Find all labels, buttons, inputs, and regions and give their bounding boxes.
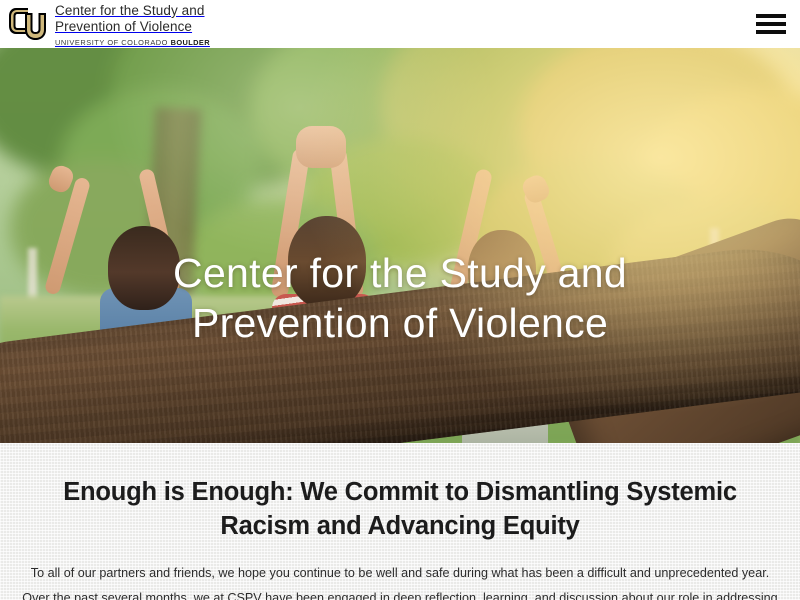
hamburger-bar-3 [756,30,786,34]
intro-paragraphs: To all of our partners and friends, we h… [18,561,782,600]
intro-paragraph-1: To all of our partners and friends, we h… [18,561,782,586]
hamburger-bar-1 [756,14,786,18]
brand-title-line2: Prevention of Violence [55,19,192,34]
hero-banner: Center for the Study and Prevention of V… [0,48,800,443]
page-title-line1: Enough is Enough: We Commit to Dismantli… [63,478,737,506]
hero-photograph [0,48,800,443]
cu-interlocking-logo-icon [8,6,46,42]
hamburger-menu-icon[interactable] [756,12,786,36]
hero-title-line1: Center for the Study and [173,250,627,296]
hero-title-line2: Prevention of Violence [192,300,608,346]
brand-title-line1: Center for the Study and [55,3,205,18]
site-header: Center for the Study and Prevention of V… [0,0,800,48]
page-title-line2: Racism and Advancing Equity [220,512,579,540]
page-title: Enough is Enough: We Commit to Dismantli… [18,476,782,543]
brand-subtitle: UNIVERSITY OF COLORADO BOULDER [55,39,210,47]
main-content: Enough is Enough: We Commit to Dismantli… [0,443,800,600]
hamburger-bar-2 [756,22,786,26]
intro-paragraph-2: Over the past several months, we at CSPV… [18,586,782,600]
brand-subtitle-university: UNIVERSITY OF COLORADO [55,38,171,47]
brand-logo-link[interactable]: Center for the Study and Prevention of V… [8,2,210,47]
child-middle-clasped-hands [296,126,346,168]
hero-title: Center for the Study and Prevention of V… [0,248,800,348]
brand-text: Center for the Study and Prevention of V… [55,2,210,47]
brand-subtitle-boulder: BOULDER [171,38,210,47]
